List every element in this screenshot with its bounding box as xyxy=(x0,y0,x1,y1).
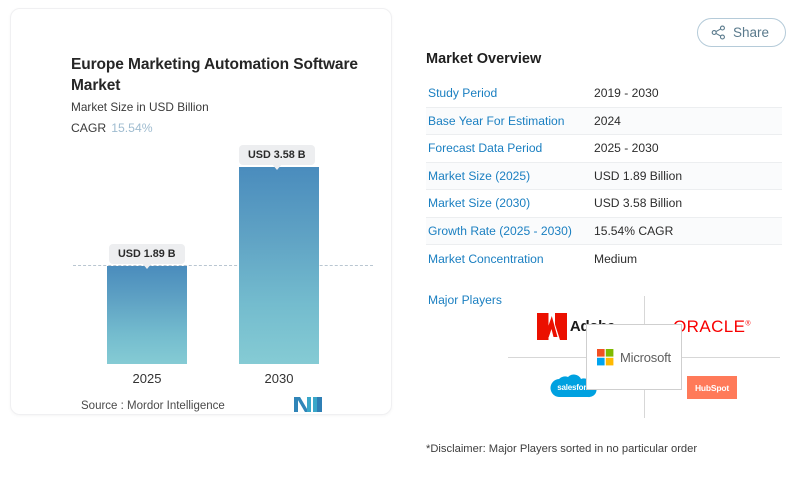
bar-chart-plot: USD 1.89 B USD 3.58 B 2025 2030 xyxy=(11,9,393,416)
row-value: USD 1.89 Billion xyxy=(594,169,682,183)
row-value: 2024 xyxy=(594,114,621,128)
hubspot-logo: HubSpot xyxy=(687,376,737,399)
row-label: Forecast Data Period xyxy=(426,141,594,155)
major-players-label: Major Players xyxy=(428,293,502,307)
chart-card: Europe Marketing Automation Software Mar… xyxy=(10,8,392,415)
share-button-label: Share xyxy=(733,25,769,40)
major-players-logo-grid: Adobe ORACLE® salesforce HubSpot xyxy=(508,296,780,418)
mordor-intelligence-logo-icon xyxy=(293,395,323,413)
oracle-wordmark: ORACLE xyxy=(673,317,745,336)
oracle-logo: ORACLE® xyxy=(673,317,751,337)
microsoft-wordmark: Microsoft xyxy=(620,350,671,365)
oracle-registered-mark: ® xyxy=(745,320,751,327)
table-row: Base Year For Estimation 2024 xyxy=(426,108,782,136)
bar-2030[interactable] xyxy=(239,167,319,364)
bar-label-2030: USD 3.58 B xyxy=(239,145,315,165)
table-row: Forecast Data Period 2025 - 2030 xyxy=(426,135,782,163)
row-label: Market Size (2025) xyxy=(426,169,594,183)
player-cell-microsoft[interactable]: Microsoft xyxy=(586,324,682,390)
table-row: Growth Rate (2025 - 2030) 15.54% CAGR xyxy=(426,218,782,246)
row-label: Growth Rate (2025 - 2030) xyxy=(426,224,594,238)
microsoft-squares-icon xyxy=(597,349,614,366)
table-row: Market Size (2025) USD 1.89 Billion xyxy=(426,163,782,191)
x-axis-tick-2030: 2030 xyxy=(239,371,319,386)
page-root: Europe Marketing Automation Software Mar… xyxy=(0,0,800,482)
row-value: 2019 - 2030 xyxy=(594,86,659,100)
row-value: USD 3.58 Billion xyxy=(594,196,682,210)
row-label: Base Year For Estimation xyxy=(426,114,594,128)
disclaimer-text: *Disclaimer: Major Players sorted in no … xyxy=(426,443,697,455)
bar-2025[interactable] xyxy=(107,266,187,364)
row-label: Market Size (2030) xyxy=(426,196,594,210)
row-value: Medium xyxy=(594,252,637,266)
bar-label-2025: USD 1.89 B xyxy=(109,244,185,264)
row-label: Study Period xyxy=(426,86,594,100)
row-value: 15.54% CAGR xyxy=(594,224,673,238)
row-value: 2025 - 2030 xyxy=(594,141,659,155)
share-button[interactable]: Share xyxy=(697,18,786,47)
table-row: Market Size (2030) USD 3.58 Billion xyxy=(426,190,782,218)
table-row: Study Period 2019 - 2030 xyxy=(426,80,782,108)
row-label: Market Concentration xyxy=(426,252,594,266)
source-text: Source : Mordor Intelligence xyxy=(81,400,225,412)
adobe-mark-icon xyxy=(537,313,567,340)
market-overview-table: Study Period 2019 - 2030 Base Year For E… xyxy=(426,80,782,273)
table-row: Market Concentration Medium xyxy=(426,245,782,273)
market-overview-title: Market Overview xyxy=(426,51,541,67)
x-axis-tick-2025: 2025 xyxy=(107,371,187,386)
share-nodes-icon xyxy=(711,25,726,40)
hubspot-wordmark: HubSpot xyxy=(695,383,729,393)
